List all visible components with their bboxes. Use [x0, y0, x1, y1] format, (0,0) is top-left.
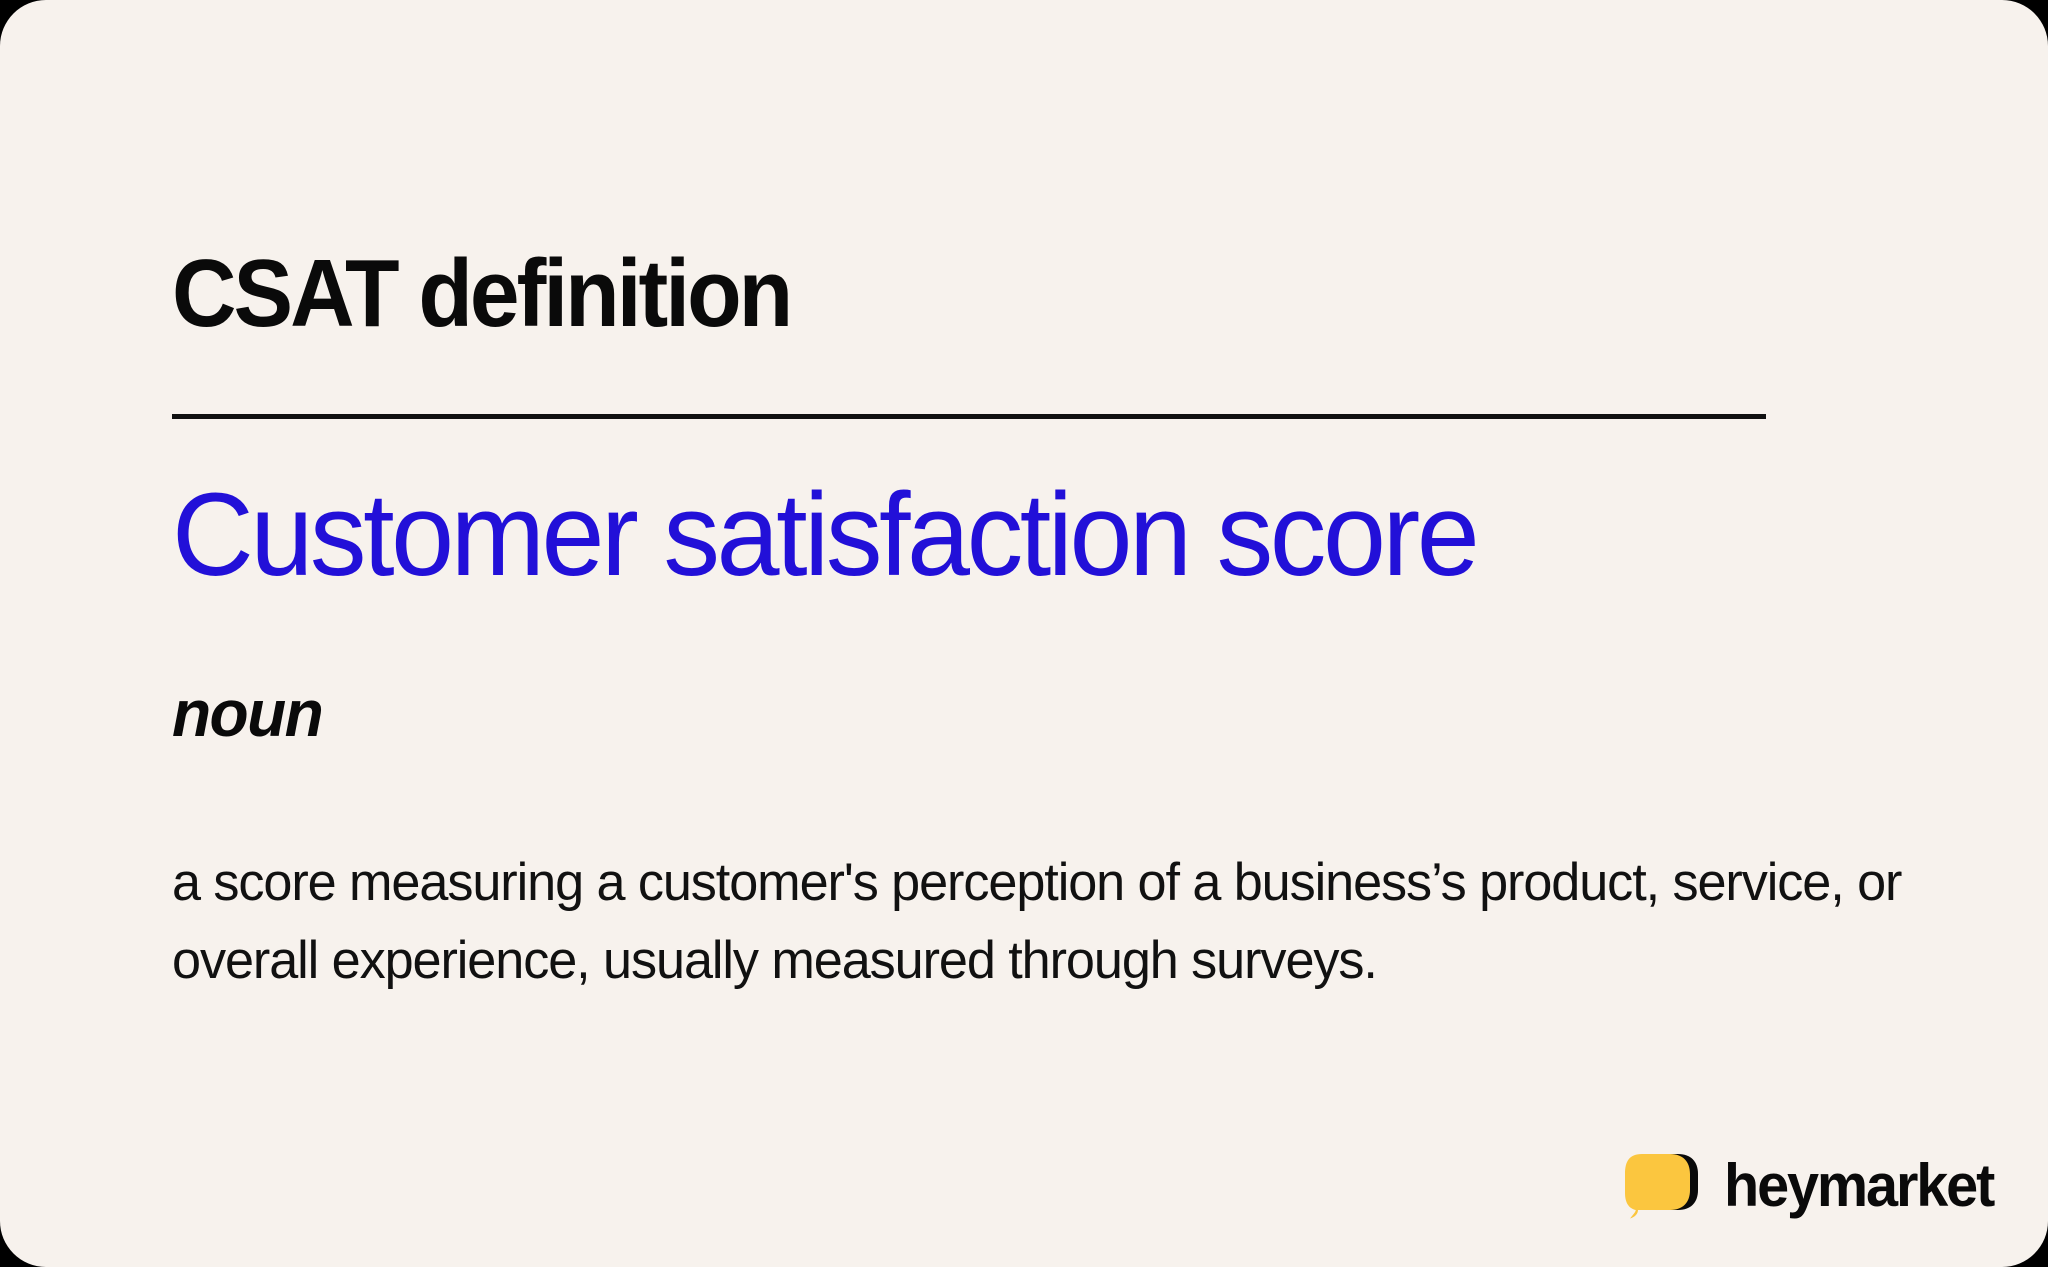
headline-term: Customer satisfaction score: [172, 472, 1476, 599]
heymarket-logo: heymarket: [1624, 1149, 2004, 1223]
definition-card: CSAT definition Customer satisfaction sc…: [0, 0, 2048, 1267]
part-of-speech-label: noun: [172, 680, 322, 746]
definition-text: a score measuring a customer's perceptio…: [172, 844, 1906, 1000]
logo-wordmark: heymarket: [1724, 1156, 1993, 1216]
page-title: CSAT definition: [172, 246, 790, 342]
title-divider: [172, 414, 1766, 419]
speech-bubble-icon: [1624, 1153, 1702, 1219]
card-content: CSAT definition Customer satisfaction sc…: [172, 0, 2048, 1267]
